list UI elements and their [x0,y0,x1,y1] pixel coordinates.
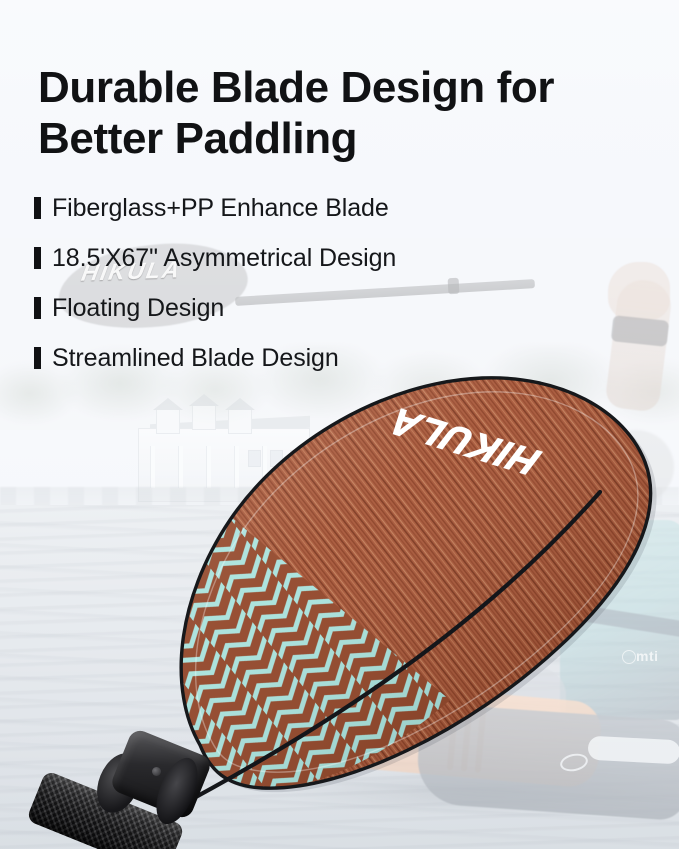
product-banner: mti SE370 HIKULA [0,0,679,849]
headline-line-2: Better Paddling [38,113,638,164]
headline-line-1: Durable Blade Design for [38,62,638,113]
bullet-marker-icon [34,297,41,319]
bullet-marker-icon [34,347,41,369]
feature-label: Fiberglass+PP Enhance Blade [52,196,389,221]
ferrule-button [152,767,161,776]
bullet-marker-icon [34,197,41,219]
feature-list: Fiberglass+PP Enhance Blade 18.5'X67" As… [34,183,654,383]
list-item: Fiberglass+PP Enhance Blade [34,183,654,233]
page-title: Durable Blade Design for Better Paddling [38,62,638,164]
list-item: Floating Design [34,283,654,333]
feature-label: Floating Design [52,296,224,321]
bullet-marker-icon [34,247,41,269]
feature-label: Streamlined Blade Design [52,346,339,371]
list-item: Streamlined Blade Design [34,333,654,383]
list-item: 18.5'X67" Asymmetrical Design [34,233,654,283]
feature-label: 18.5'X67" Asymmetrical Design [52,246,396,271]
